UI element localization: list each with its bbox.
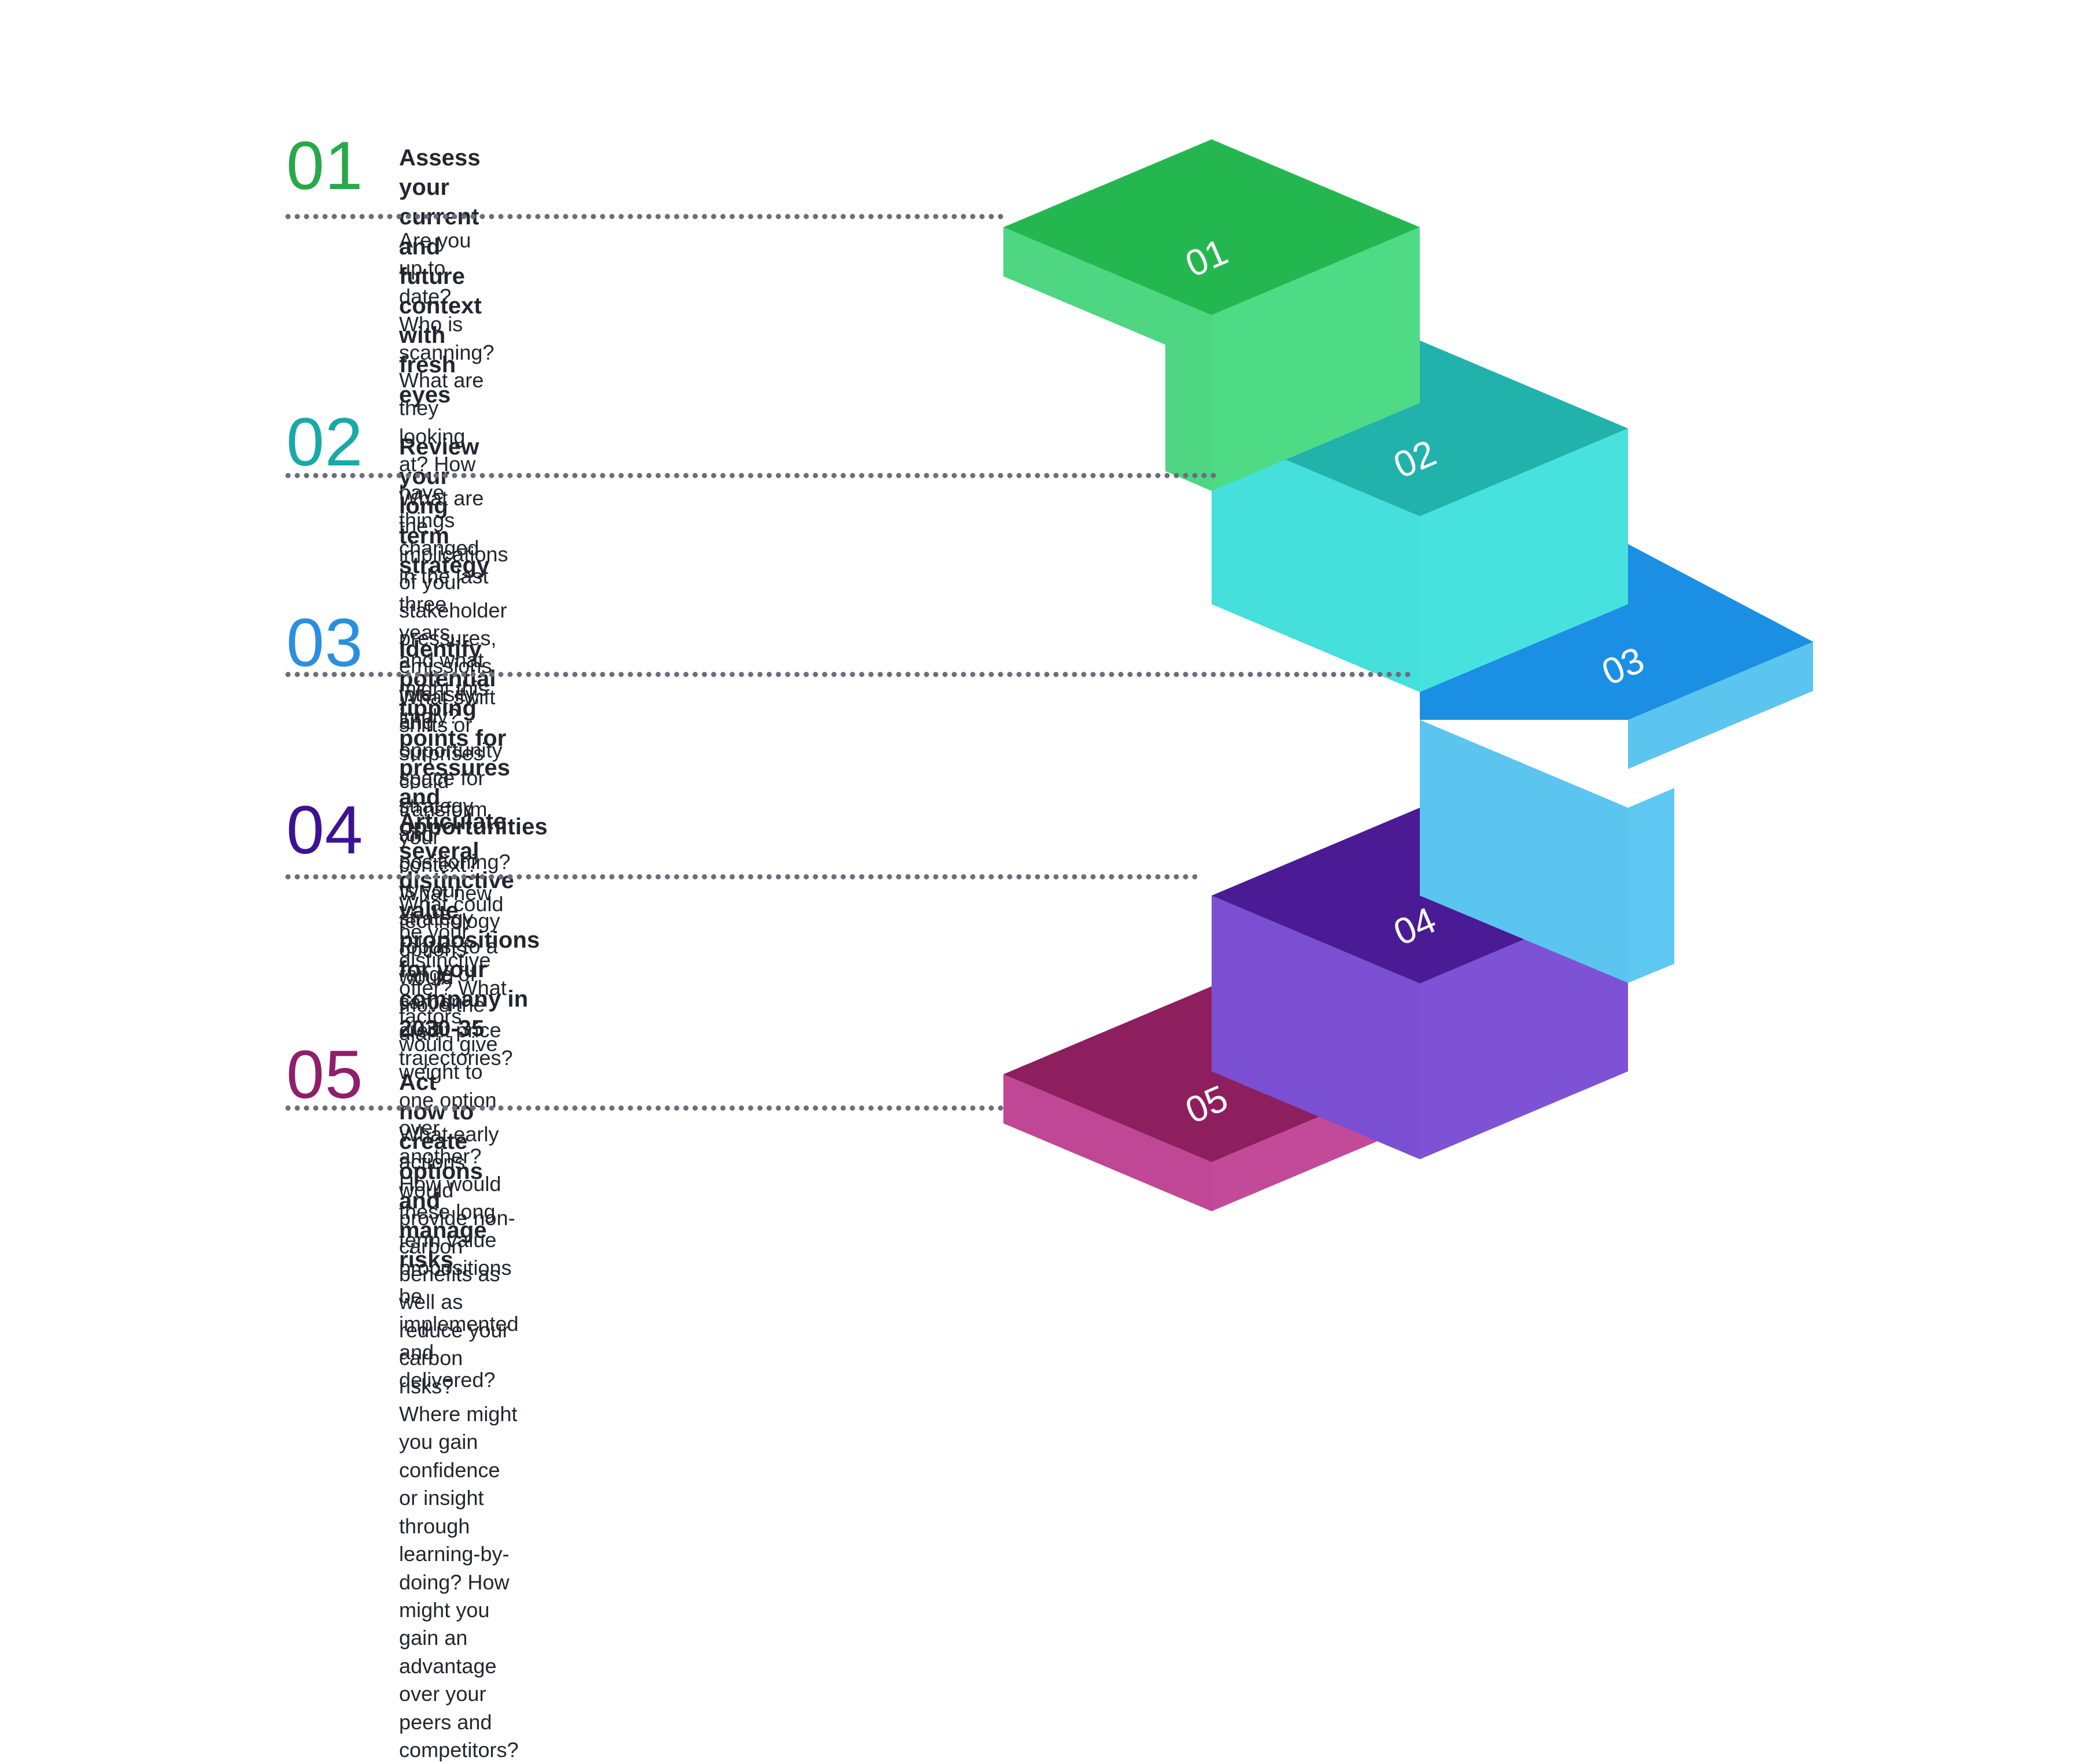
stair-block-03-top-face-main [1420,544,1813,720]
step-number-03: 03 [286,609,363,677]
step-number-02: 02 [286,408,363,476]
stair-block-03-front-face [1628,788,1674,983]
stair-block-03-label: 03 [1596,639,1650,693]
step-number-01: 01 [286,132,363,200]
step-number-05: 05 [286,1041,363,1109]
step-number-04: 04 [286,796,363,864]
stair-block-04-label: 04 [1387,899,1442,953]
stair-block-02-front-face [1420,428,1628,692]
step-divider-04 [283,874,1197,879]
stair-block-03-left-face [1420,720,1628,983]
step-divider-05 [283,1105,1006,1111]
stair-block-03-top-face-join [1420,632,1628,720]
stair-block-02-label: 02 [1387,432,1442,486]
stair-block-04-front-face [1420,896,1628,1159]
stair-block-03-top-face [1420,632,1813,720]
step-body-05: What early actions would provide non-car… [399,1120,519,1764]
steps-text-column: 01 Assess your current and future contex… [0,0,1330,1388]
infographic-canvas: 05 04 03 02 [0,0,2082,1388]
stair-block-03-right-overhang [1628,642,1813,769]
stair-block-03: 03 [1420,544,1813,983]
step-divider-02 [283,473,1220,478]
step-divider-03 [283,672,1414,677]
step-divider-01 [283,214,1003,219]
